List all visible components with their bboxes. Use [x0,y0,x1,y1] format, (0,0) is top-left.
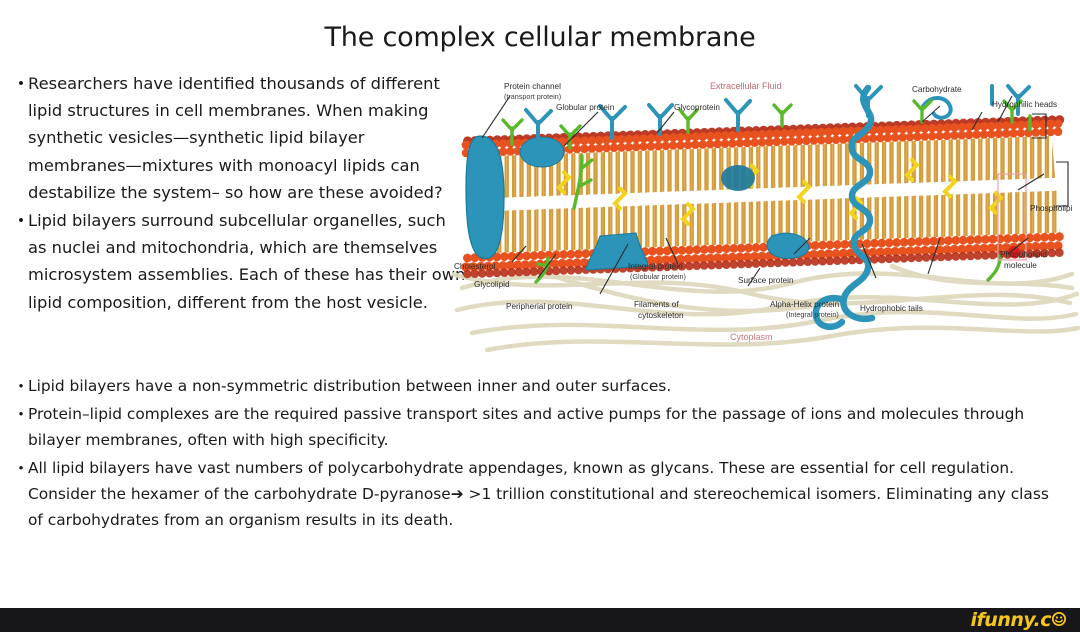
bullet-dot-icon: • [14,373,28,399]
ifunny-text: ifunny.c [971,609,1051,631]
label-filaments-sub: cytoskeleton [638,311,684,320]
bullet-dot-icon: • [14,401,28,427]
bullet-text: All lipid bilayers have vast numbers of … [28,455,1054,533]
label-integral-protein: Integral protein [628,262,683,271]
label-filaments: Filaments of [634,300,679,309]
bullet-list-bottom: • Lipid bilayers have a non-symmetric di… [14,373,1054,535]
ifunny-watermark: ifunny.c [971,609,1066,631]
bullet-dot-icon: • [14,207,28,234]
label-globular-protein: Globular protein [556,103,614,112]
slide-canvas: The complex cellular membrane • Research… [0,0,1080,632]
label-alpha-helix-protein: Alpha-Helix protein [770,300,839,309]
bullet-dot-icon: • [14,455,28,481]
bullet-text: Lipid bilayers surround subcellular orga… [28,207,466,316]
list-item: • Protein–lipid complexes are the requir… [14,401,1054,453]
label-protein-channel: Protein channel [504,82,561,91]
label-phospholipid-molecule: Phospholipid [1000,250,1047,259]
label-alpha-helix-protein-sub: (Integral protein) [786,310,839,319]
bullet-text: Lipid bilayers have a non-symmetric dist… [28,373,1054,399]
label-integral-protein-sub: (Globular protein) [630,272,686,281]
bullet-text: Protein–lipid complexes are the required… [28,401,1054,453]
label-hydrophobic-tails: Hydrophobic tails [860,304,923,313]
list-item: • Researchers have identified thousands … [14,70,466,206]
label-cholesterol: Cholesterol [454,262,495,271]
globular-protein-shape [520,137,564,167]
label-glycolipid: Glycolipid [474,280,510,289]
label-peripherial-protein: Peripherial protein [506,302,572,311]
bullet-dot-icon: • [14,70,28,97]
membrane-illustration [452,78,1080,358]
footer-bar: ifunny.c [0,608,1080,632]
bullet-text: Researchers have identified thousands of… [28,70,466,206]
smiley-face-icon [1052,612,1066,626]
label-phospholipids: Phospholipi [1030,204,1072,213]
label-phospholipid-molecule-sub: molecule [1004,261,1037,270]
cell-membrane-diagram: Protein channel (transport protein) Glob… [452,78,1080,358]
label-carbohydrate: Carbohydrate [912,85,962,94]
label-hydrophilic-heads: Hydrophilic heads [992,100,1057,109]
list-item: • Lipid bilayers have a non-symmetric di… [14,373,1054,399]
label-glycoprotein: Glycoprotein [674,103,720,112]
page-title: The complex cellular membrane [0,22,1080,53]
bullet-list-left: • Researchers have identified thousands … [14,70,466,317]
protein-channel-right-shape [702,124,746,248]
list-item: • All lipid bilayers have vast numbers o… [14,455,1054,533]
label-extracellular-fluid: Extracellular Fluid [710,81,782,91]
label-cytoplasm: Cytoplasm [730,332,773,342]
label-surface-protein: Surface protein [738,276,794,285]
protein-channel-shape [466,136,504,259]
label-protein-channel-sub: (transport protein) [504,92,561,101]
list-item: • Lipid bilayers surround subcellular or… [14,207,466,316]
